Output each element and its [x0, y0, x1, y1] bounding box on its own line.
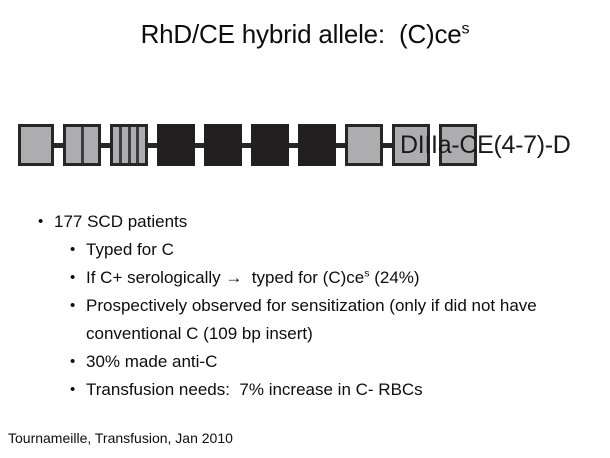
bullet-typed-for-c: •Typed for C [70, 236, 598, 264]
bullet-list: •177 SCD patients•Typed for C•If C+ sero… [38, 208, 598, 404]
exon-3 [110, 124, 148, 166]
bullet-if-c-plus-serologically: •If C+ serologically → typed for (C)ces … [70, 264, 598, 292]
exon-1 [18, 124, 54, 166]
exon-2 [63, 124, 101, 166]
exon-5 [204, 124, 242, 166]
bullet-dot-icon: • [70, 292, 86, 320]
bullet-if-c-plus-serologically-text-pre: If C+ serologically → typed for (C)ce [86, 268, 364, 287]
exon-5-segment [207, 127, 239, 163]
exon-3-segment [122, 127, 131, 163]
bullet-177-scd-patients: •177 SCD patients [38, 208, 598, 236]
exon-3-segment [113, 127, 122, 163]
bullet-typed-for-c-text: Typed for C [86, 236, 598, 264]
exon-4 [157, 124, 195, 166]
exon-2-segment [66, 127, 84, 163]
exon-3-segment [131, 127, 140, 163]
exon-8 [345, 124, 383, 166]
gene-allele-label: DIIIa-CE(4-7)-D [400, 126, 571, 164]
exon-2-segment [84, 127, 99, 163]
bullet-dot-icon: • [70, 264, 86, 292]
page-title: RhD/CE hybrid allele: (C)ces [0, 18, 610, 50]
bullet-177-scd-patients-text: 177 SCD patients [54, 208, 598, 236]
exon-8-segment [348, 127, 380, 163]
bullet-dot-icon: • [70, 348, 86, 376]
bullet-transfusion-needs: •Transfusion needs: 7% increase in C- RB… [70, 376, 598, 404]
page-title-main: RhD/CE hybrid allele: (C)ce [141, 19, 462, 49]
exon-6-segment [254, 127, 286, 163]
citation-reference: Tournameille, Transfusion, Jan 2010 [8, 428, 233, 448]
exon-3-segment [139, 127, 145, 163]
bullet-30-percent-made-anti-c-text: 30% made anti-C [86, 348, 598, 376]
bullet-prospectively-observed-text: Prospectively observed for sensitization… [86, 292, 598, 348]
exon-4-segment [160, 127, 192, 163]
exon-6 [251, 124, 289, 166]
exon-1-segment [21, 127, 51, 163]
bullet-transfusion-needs-text: Transfusion needs: 7% increase in C- RBC… [86, 376, 598, 404]
bullet-if-c-plus-serologically-text-post: (24%) [370, 268, 420, 287]
page-title-superscript: s [462, 19, 470, 37]
bullet-prospectively-observed: •Prospectively observed for sensitizatio… [70, 292, 598, 348]
exon-7-segment [301, 127, 333, 163]
bullet-dot-icon: • [70, 236, 86, 264]
bullet-dot-icon: • [70, 376, 86, 404]
exon-7 [298, 124, 336, 166]
bullet-30-percent-made-anti-c: •30% made anti-C [70, 348, 598, 376]
bullet-if-c-plus-serologically-text: If C+ serologically → typed for (C)ces (… [86, 264, 598, 292]
bullet-dot-icon: • [38, 208, 54, 236]
